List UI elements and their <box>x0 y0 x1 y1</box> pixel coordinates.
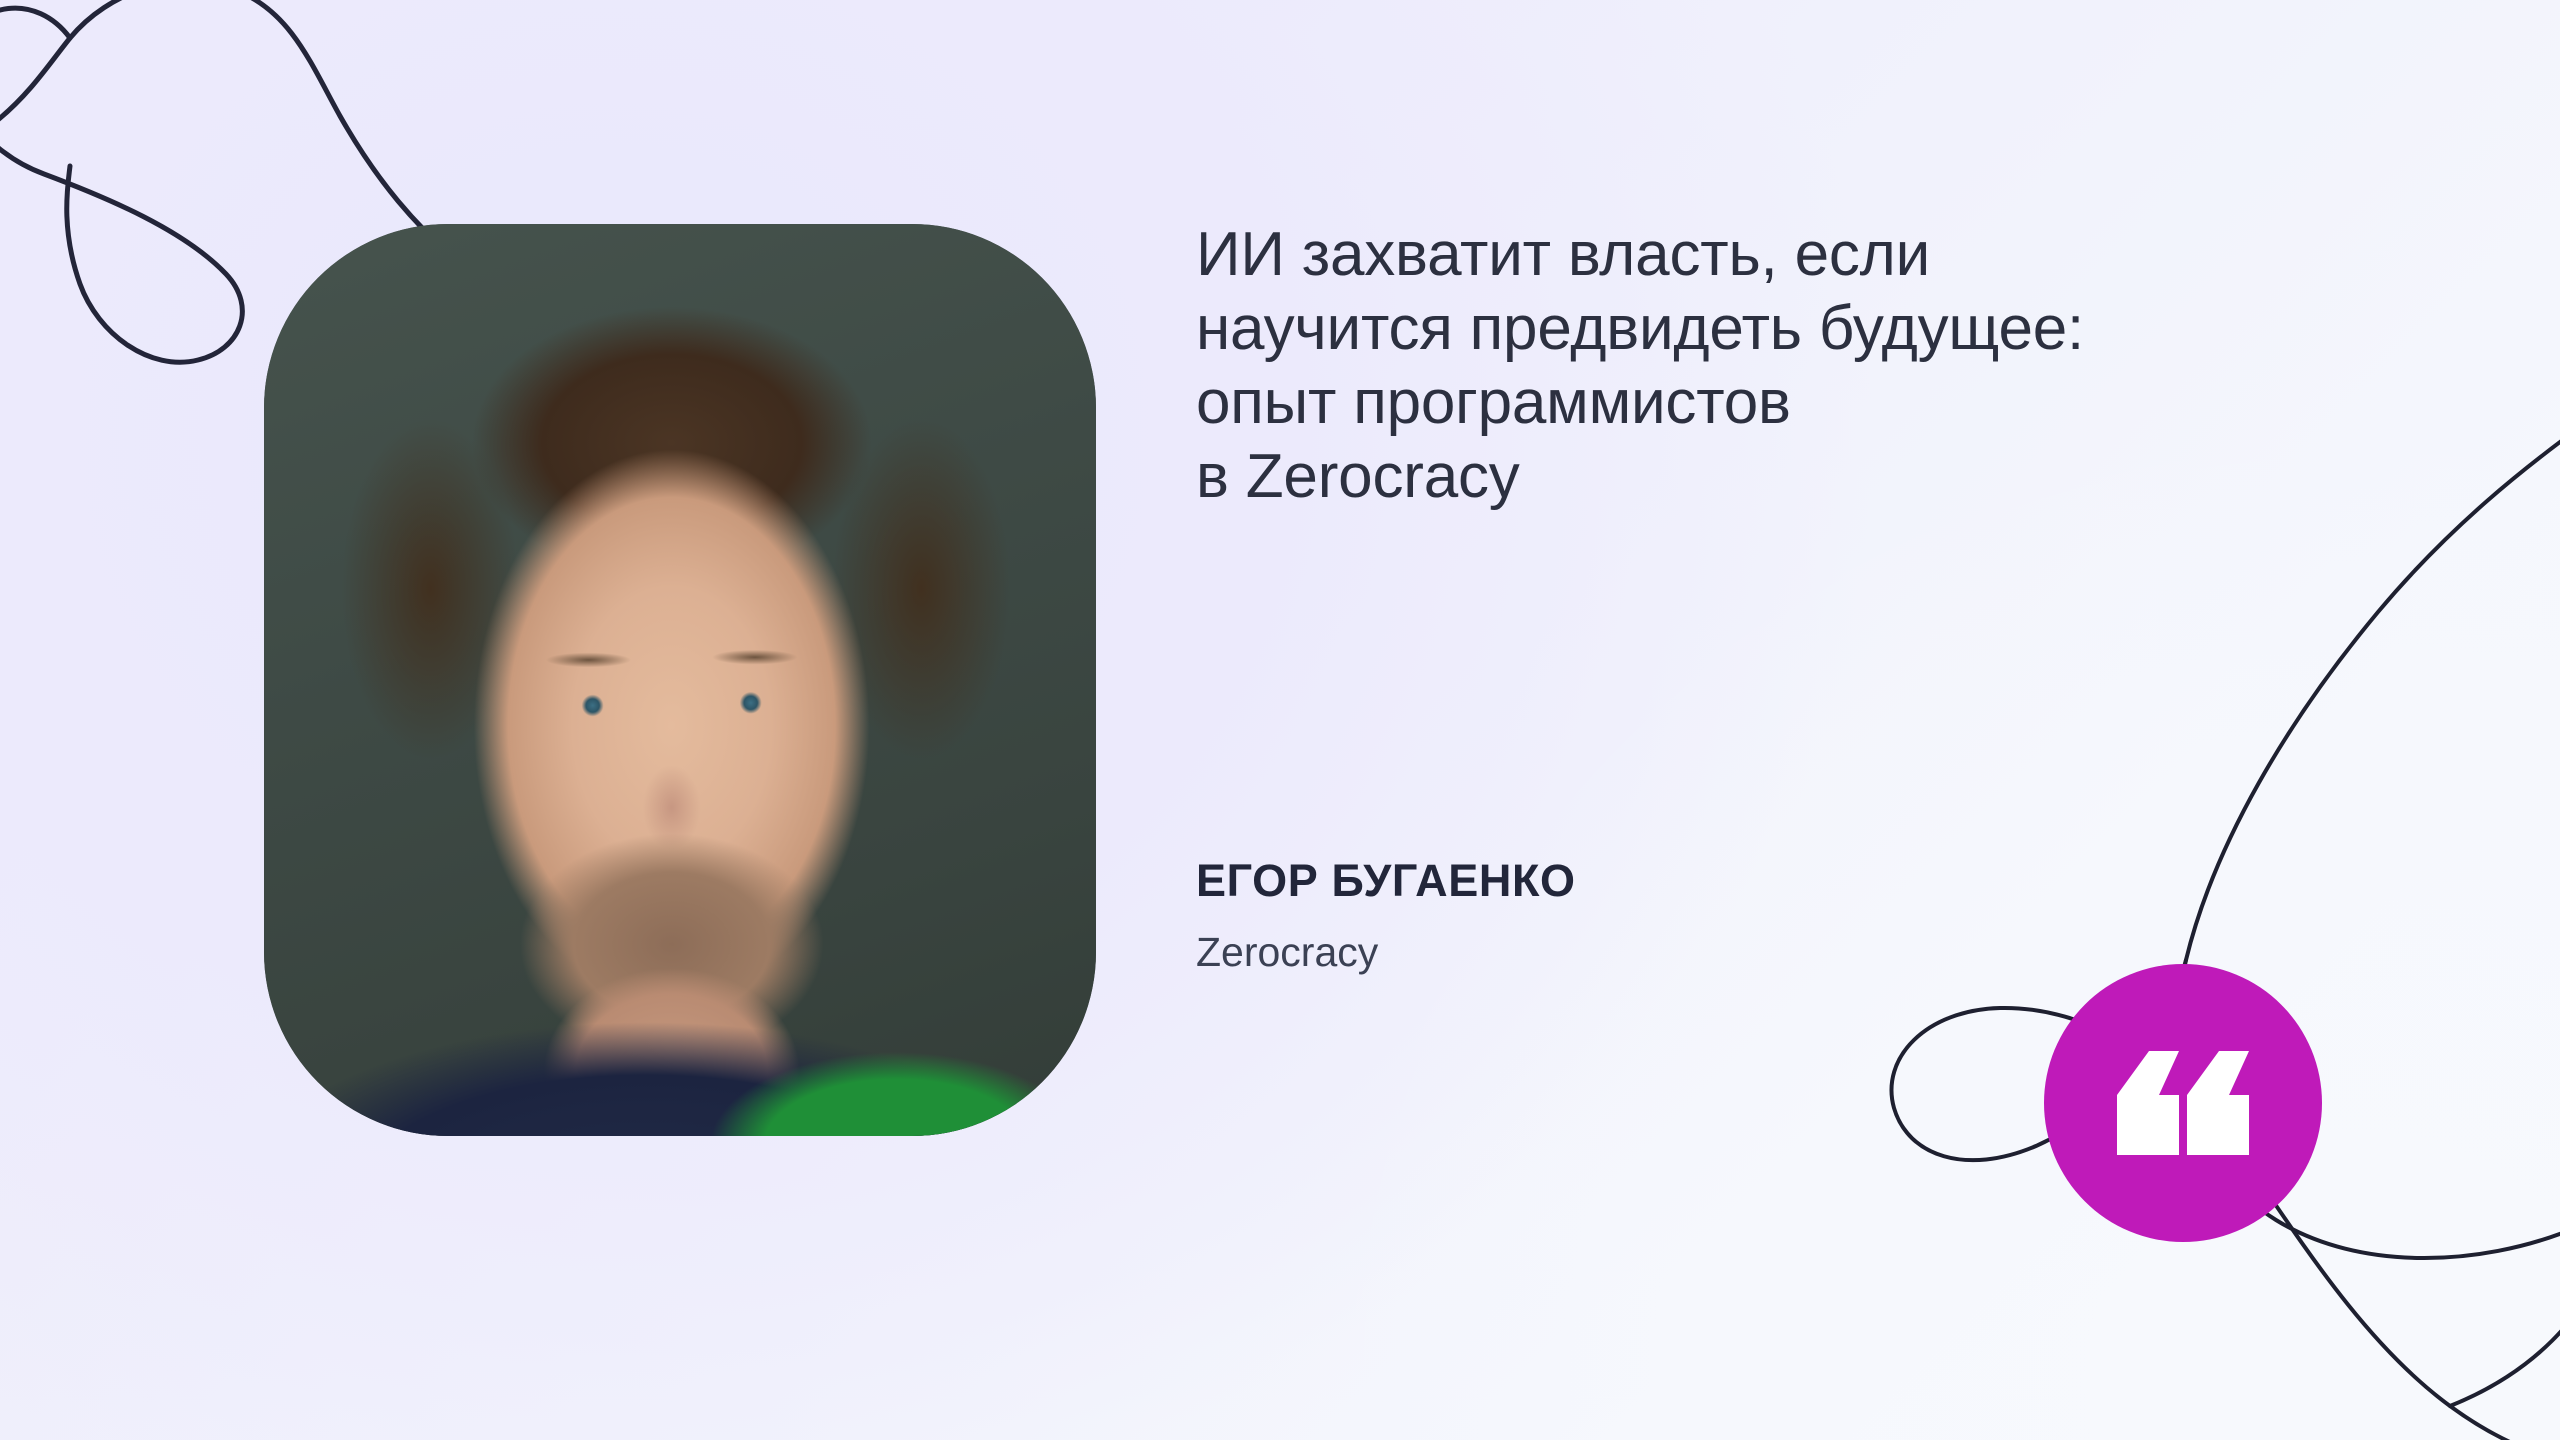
quote-slide: ИИ захватит власть, если научится предви… <box>0 0 2560 1440</box>
attribution-block: ЕГОР БУГАЕНКО Zerocracy <box>1196 854 1576 976</box>
speaker-company: Zerocracy <box>1196 928 1576 976</box>
speaker-portrait <box>264 224 1096 1136</box>
speaker-photo-image <box>264 224 1096 1136</box>
page-title: ИИ захватит власть, если научится предви… <box>1196 218 2306 514</box>
quote-badge <box>2044 964 2322 1242</box>
squiggle-bottom-right-icon <box>1890 430 2560 1440</box>
speaker-name: ЕГОР БУГАЕНКО <box>1196 854 1576 908</box>
headline-block: ИИ захватит власть, если научится предви… <box>1196 218 2306 514</box>
quote-open-icon <box>2117 1051 2249 1155</box>
